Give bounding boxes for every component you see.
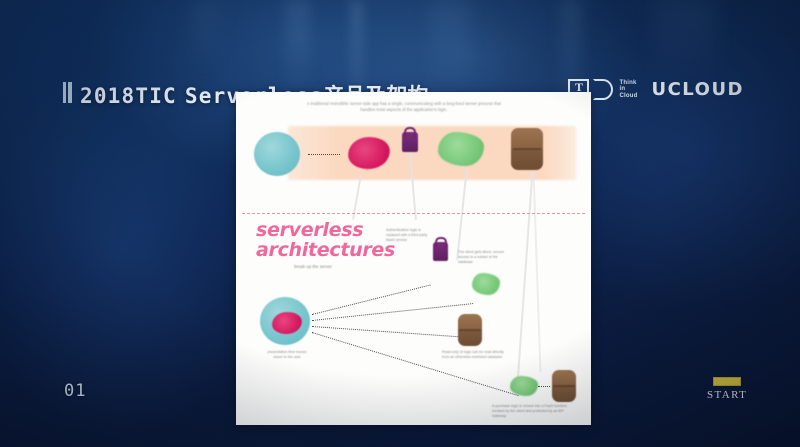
search-function-shape xyxy=(472,273,500,295)
start-button[interactable]: START xyxy=(707,377,747,401)
annotation-purchase-note: A purchase logic is moved into a FaaS fu… xyxy=(492,404,576,419)
annotation-db-note: The client gets direct, secure access to… xyxy=(458,250,510,265)
client-to-faas-connector xyxy=(312,332,519,396)
client-circle-shape xyxy=(254,132,300,176)
slide-header: 2018TICServerless产品及架构 T Think in Cloud … xyxy=(0,38,800,72)
purchase-database-shape xyxy=(552,370,576,402)
ucloud-logo: UCLOUD xyxy=(651,79,744,100)
client-caption: presentation-flow movescloser to the use… xyxy=(254,350,320,360)
start-accent-bar-icon xyxy=(713,377,741,386)
auth-service-lock-icon xyxy=(433,242,448,261)
search-service-shape xyxy=(438,132,484,166)
page-number: 01 xyxy=(64,381,86,401)
title-bar-marks-icon xyxy=(63,82,72,103)
annotation-search-note: Read-only UI logic can be read directly … xyxy=(442,350,510,360)
restricted-database-shape xyxy=(458,314,482,346)
database-shape xyxy=(511,128,543,170)
section-divider-dashed-line xyxy=(242,213,585,214)
title-prefix: 2018TIC xyxy=(80,84,177,108)
tic-tagline-line3: Cloud xyxy=(619,93,637,100)
flow-connector xyxy=(517,172,534,382)
client-to-search-connector xyxy=(312,303,473,321)
faas-to-db-connector xyxy=(538,386,550,387)
auth-lock-icon xyxy=(402,132,418,152)
headline-caption: break up the server xyxy=(270,264,356,269)
purchase-function-shape xyxy=(510,376,538,396)
logo-group: T Think in Cloud UCLOUD xyxy=(568,79,744,100)
tic-c-arc-icon xyxy=(593,79,613,100)
annotation-auth-note: Authentication logic is replaced with a … xyxy=(386,228,428,243)
flow-connector xyxy=(456,168,468,260)
diagram-top-note: A traditional monolithic server-side app… xyxy=(304,101,504,113)
presentation-slide: 2018TICServerless产品及架构 T Think in Cloud … xyxy=(0,0,800,447)
client-to-app-connector xyxy=(308,154,340,155)
diagram-image-panel: A traditional monolithic server-side app… xyxy=(236,92,591,425)
start-button-label: START xyxy=(707,389,747,401)
flow-connector xyxy=(533,172,542,372)
client-to-db-connector xyxy=(312,326,458,337)
tic-tagline: Think in Cloud xyxy=(619,80,637,100)
headline-line-2: architectures xyxy=(256,240,416,260)
